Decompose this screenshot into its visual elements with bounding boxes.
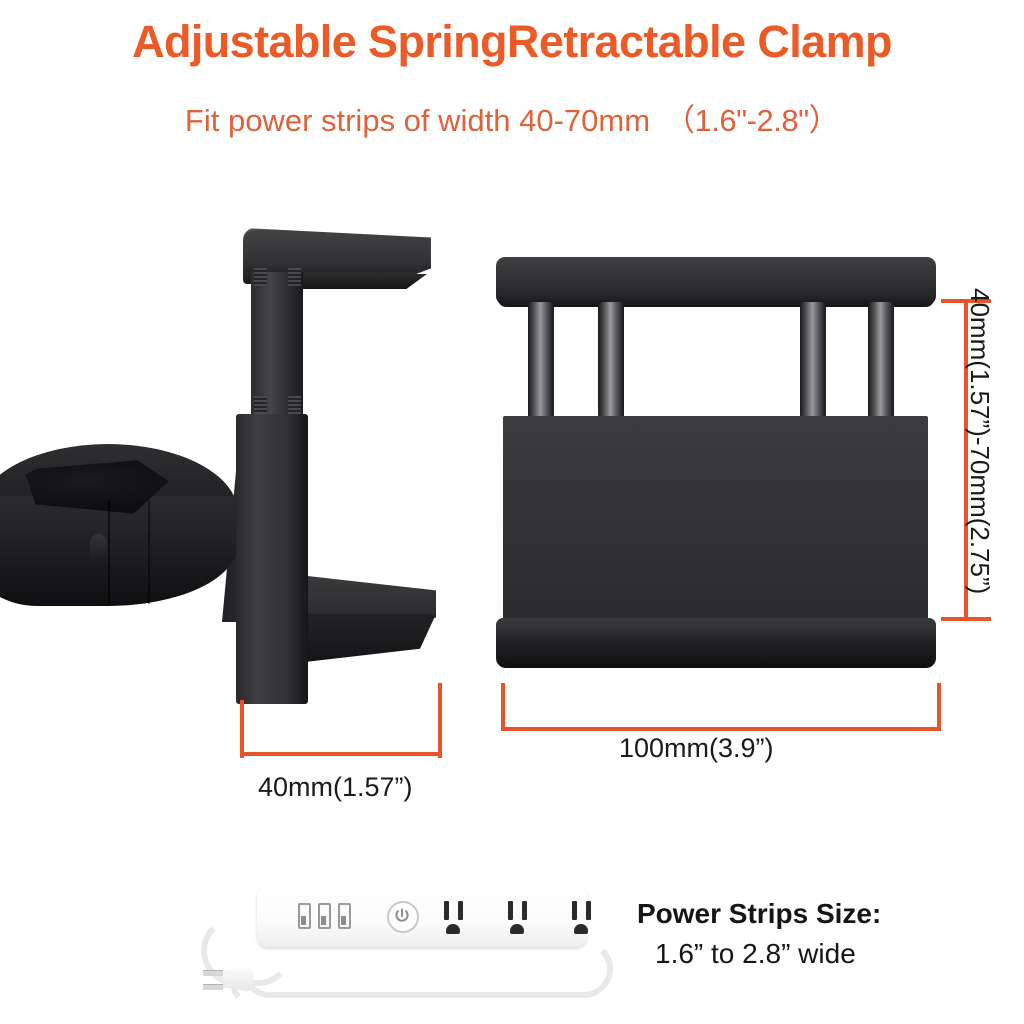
- knurl-texture-bottom-left: [254, 396, 267, 414]
- knurl-texture-top-right: [288, 268, 301, 286]
- mounting-collar-notch: [90, 534, 107, 564]
- knurl-texture-top-left: [254, 268, 267, 286]
- subtitle-main-text: Fit power strips of width 40-70mm: [185, 103, 650, 138]
- clamp-spine: [236, 414, 308, 704]
- plug-prong-lower: [203, 984, 223, 990]
- subtitle-inch-range: （1.6"-2.8"）: [664, 103, 839, 138]
- power-glyph-icon: [390, 904, 414, 928]
- outlet-3-slot-right: [586, 901, 591, 920]
- ac-outlet-2: [497, 901, 537, 935]
- spring-rod-4: [868, 302, 894, 420]
- height-dim-label: 40mm(1.57”)-70mm(2.75”): [964, 288, 995, 594]
- width-dim-line: [501, 727, 941, 731]
- knurl-texture-bottom-right: [288, 396, 301, 414]
- front-body-panel: [503, 416, 928, 626]
- spring-rod-2: [598, 302, 624, 420]
- ac-outlet-3: [561, 901, 601, 935]
- outlet-1-slot-right: [458, 901, 463, 920]
- power-strip-illustration: [195, 880, 615, 1024]
- usb-port-2: [318, 903, 331, 929]
- power-strip-caption-range: 1.6” to 2.8” wide: [655, 938, 856, 970]
- depth-dim-tick-left: [240, 700, 244, 758]
- page-subtitle: Fit power strips of width 40-70mm（1.6"-2…: [0, 95, 1024, 140]
- mounting-collar-band: [0, 496, 238, 606]
- outlet-2-slot-left: [508, 901, 513, 920]
- power-button[interactable]: [387, 901, 419, 933]
- front-bottom-bar-edge: [496, 636, 936, 668]
- collar-seam-right: [148, 500, 150, 604]
- usb-port-3: [338, 903, 351, 929]
- clamp-side-view: [0, 200, 470, 740]
- depth-dim-tick-right: [438, 683, 442, 758]
- page-title: Adjustable SpringRetractable Clamp: [0, 16, 1024, 68]
- depth-dim-label: 40mm(1.57”): [258, 772, 413, 803]
- plug-prong-upper: [203, 970, 223, 976]
- width-dim-label: 100mm(3.9”): [619, 733, 774, 764]
- power-strip-caption-title: Power Strips Size:: [637, 898, 881, 930]
- outlet-1-slot-left: [444, 901, 449, 920]
- width-dim-tick-left: [501, 683, 505, 731]
- product-infographic: Adjustable SpringRetractable Clamp Fit p…: [0, 0, 1024, 1024]
- outlet-1-ground: [446, 924, 460, 934]
- outlet-3-slot-left: [572, 901, 577, 920]
- outlet-2-slot-right: [522, 901, 527, 920]
- clamp-front-view: [470, 240, 960, 680]
- height-dim-tick-bottom: [941, 617, 991, 621]
- usb-port-1: [298, 903, 311, 929]
- width-dim-tick-right: [937, 683, 941, 731]
- spring-rod-1: [528, 302, 554, 420]
- collar-seam-left: [108, 500, 110, 604]
- ac-outlet-1: [433, 901, 473, 935]
- spring-rod-3: [800, 302, 826, 420]
- depth-dim-line: [240, 752, 442, 756]
- outlet-3-ground: [574, 924, 588, 934]
- outlet-2-ground: [510, 924, 524, 934]
